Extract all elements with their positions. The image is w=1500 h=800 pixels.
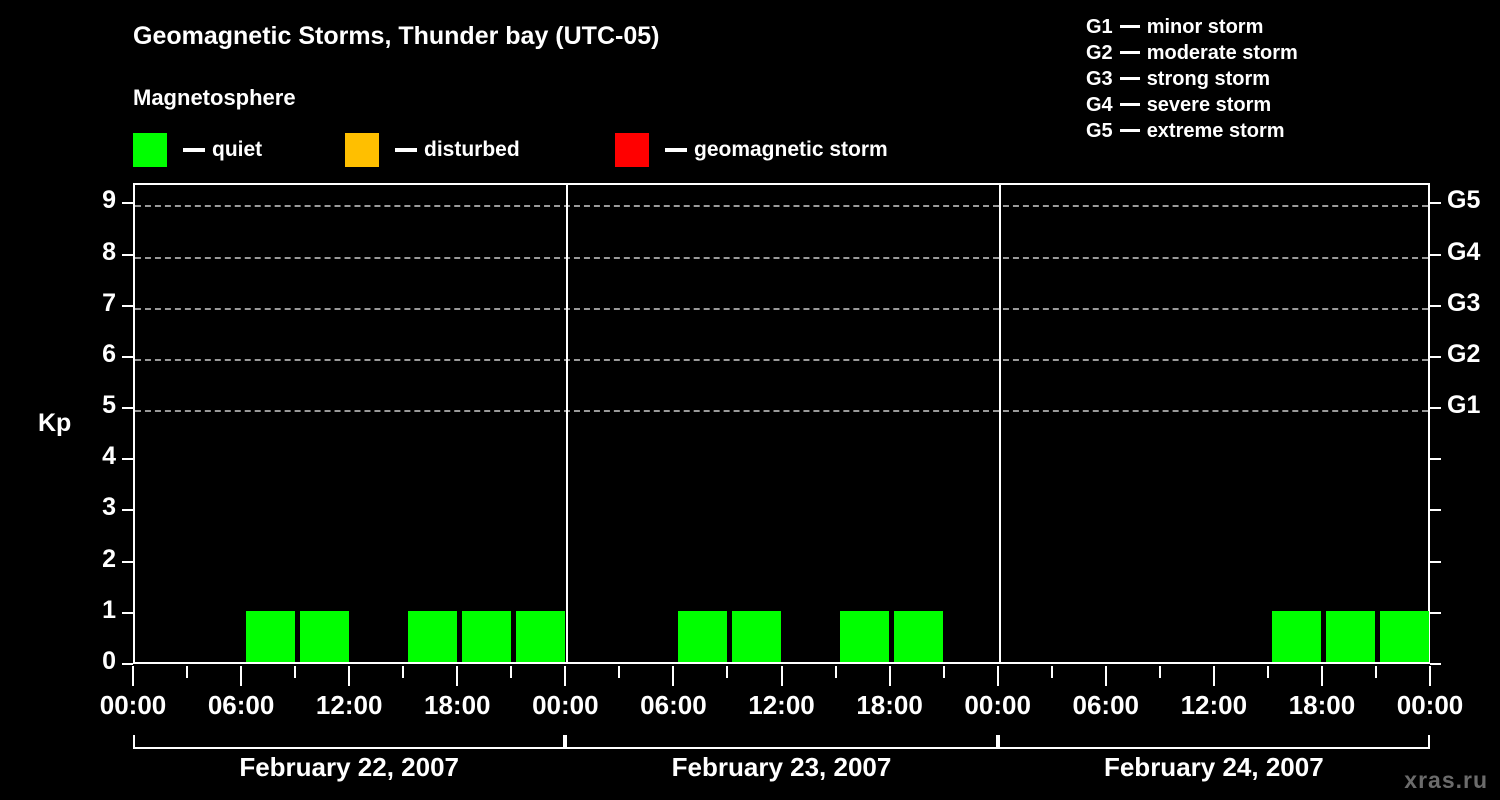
legend-entry-quiet: quiet xyxy=(133,133,262,167)
y-tick-7 xyxy=(122,305,133,307)
g-legend-description: strong storm xyxy=(1147,68,1270,90)
legend-dash-icon xyxy=(395,148,417,152)
y-tick-label-5: 5 xyxy=(78,393,116,418)
y-tick-label-0: 0 xyxy=(78,649,116,674)
day-separator-2 xyxy=(999,185,1001,662)
day-bracket-3 xyxy=(998,735,1430,749)
kp-bar xyxy=(246,611,295,662)
day-label-3: February 24, 2007 xyxy=(998,752,1430,783)
y-right-tick-8 xyxy=(1430,254,1441,256)
g-legend-dash-icon xyxy=(1120,129,1140,132)
g-legend-row-g5: G5extreme storm xyxy=(1086,118,1486,144)
g-legend-dash-icon xyxy=(1120,103,1140,106)
y-tick-label-8: 8 xyxy=(78,240,116,265)
g-legend-row-g1: G1minor storm xyxy=(1086,14,1486,40)
legend-label: quiet xyxy=(212,138,262,162)
kp-bar xyxy=(678,611,727,662)
x-axis-label: 00:00 xyxy=(938,690,1058,721)
x-tick-21 xyxy=(1267,666,1269,678)
x-tick-23 xyxy=(1375,666,1377,678)
x-axis-label: 12:00 xyxy=(722,690,842,721)
y-tick-label-4: 4 xyxy=(78,444,116,469)
kp-bar xyxy=(408,611,457,662)
y-tick-3 xyxy=(122,509,133,511)
y-right-tick-4 xyxy=(1430,458,1441,460)
x-tick-8 xyxy=(564,666,566,686)
gridline-kp-6 xyxy=(135,359,1428,361)
y-tick-label-7: 7 xyxy=(78,291,116,316)
legend-label: disturbed xyxy=(424,138,520,162)
y-right-label-g5: G5 xyxy=(1447,188,1480,213)
kp-bar xyxy=(894,611,943,662)
y-tick-2 xyxy=(122,561,133,563)
x-tick-1 xyxy=(186,666,188,678)
x-axis-label: 00:00 xyxy=(505,690,625,721)
x-tick-22 xyxy=(1321,666,1323,686)
y-right-label-g2: G2 xyxy=(1447,342,1480,367)
g-legend-code: G5 xyxy=(1086,120,1113,142)
y-right-label-g1: G1 xyxy=(1447,393,1480,418)
y-tick-label-1: 1 xyxy=(78,598,116,623)
day-label-2: February 23, 2007 xyxy=(565,752,997,783)
legend-dash-icon xyxy=(665,148,687,152)
legend-dash-icon xyxy=(183,148,205,152)
kp-bar xyxy=(1272,611,1321,662)
watermark: xras.ru xyxy=(1404,767,1488,794)
chart-subtitle: Magnetosphere xyxy=(133,85,296,111)
quiet-swatch xyxy=(133,133,167,167)
x-tick-6 xyxy=(456,666,458,686)
legend-label: geomagnetic storm xyxy=(694,138,888,162)
x-tick-5 xyxy=(402,666,404,678)
legend-entry-disturbed: disturbed xyxy=(345,133,520,167)
g-legend-code: G2 xyxy=(1086,42,1113,64)
y-tick-label-3: 3 xyxy=(78,495,116,520)
g-legend-code: G4 xyxy=(1086,94,1113,116)
gridline-kp-5 xyxy=(135,410,1428,412)
kp-bar xyxy=(516,611,565,662)
x-axis-label: 06:00 xyxy=(613,690,733,721)
chart-plot-area xyxy=(133,183,1430,664)
y-tick-label-2: 2 xyxy=(78,547,116,572)
g-legend-description: moderate storm xyxy=(1147,42,1298,64)
storm-swatch xyxy=(615,133,649,167)
x-axis-label: 06:00 xyxy=(181,690,301,721)
x-axis-label: 18:00 xyxy=(830,690,950,721)
y-tick-1 xyxy=(122,612,133,614)
plot-inner xyxy=(135,185,1428,662)
x-axis-label: 12:00 xyxy=(1154,690,1274,721)
x-tick-19 xyxy=(1159,666,1161,678)
x-tick-15 xyxy=(943,666,945,678)
kp-bar xyxy=(1380,611,1429,662)
g-legend-description: severe storm xyxy=(1147,94,1272,116)
y-tick-0 xyxy=(122,663,133,665)
day-bracket-2 xyxy=(565,735,997,749)
x-tick-3 xyxy=(294,666,296,678)
x-tick-9 xyxy=(618,666,620,678)
day-separator-1 xyxy=(566,185,568,662)
kp-bar xyxy=(732,611,781,662)
y-tick-6 xyxy=(122,356,133,358)
x-tick-13 xyxy=(835,666,837,678)
page-title: Geomagnetic Storms, Thunder bay (UTC-05) xyxy=(133,22,659,51)
y-right-tick-9 xyxy=(1430,202,1441,204)
x-tick-20 xyxy=(1213,666,1215,686)
kp-bar xyxy=(300,611,349,662)
y-tick-9 xyxy=(122,202,133,204)
x-tick-18 xyxy=(1105,666,1107,686)
g-legend-code: G1 xyxy=(1086,16,1113,38)
y-tick-label-6: 6 xyxy=(78,342,116,367)
x-tick-12 xyxy=(781,666,783,686)
x-tick-4 xyxy=(348,666,350,686)
g-legend-description: extreme storm xyxy=(1147,120,1285,142)
y-axis-title: Kp xyxy=(38,409,71,438)
x-axis-label: 18:00 xyxy=(397,690,517,721)
disturbed-swatch xyxy=(345,133,379,167)
y-right-label-g3: G3 xyxy=(1447,291,1480,316)
kp-bar xyxy=(840,611,889,662)
gridline-kp-9 xyxy=(135,205,1428,207)
y-tick-5 xyxy=(122,407,133,409)
y-right-tick-7 xyxy=(1430,305,1441,307)
y-right-tick-2 xyxy=(1430,561,1441,563)
legend-entry-geomagnetic-storm: geomagnetic storm xyxy=(615,133,888,167)
x-axis-label: 18:00 xyxy=(1262,690,1382,721)
y-right-tick-1 xyxy=(1430,612,1441,614)
g-legend-row-g4: G4severe storm xyxy=(1086,92,1486,118)
x-axis-label: 00:00 xyxy=(73,690,193,721)
day-bracket-1 xyxy=(133,735,565,749)
x-tick-11 xyxy=(726,666,728,678)
gridline-kp-7 xyxy=(135,308,1428,310)
gridline-kp-8 xyxy=(135,257,1428,259)
g-legend-description: minor storm xyxy=(1147,16,1264,38)
x-tick-10 xyxy=(672,666,674,686)
x-tick-24 xyxy=(1429,666,1431,686)
g-legend-row-g2: G2moderate storm xyxy=(1086,40,1486,66)
day-label-1: February 22, 2007 xyxy=(133,752,565,783)
kp-bar xyxy=(462,611,511,662)
y-right-tick-3 xyxy=(1430,509,1441,511)
y-right-tick-0 xyxy=(1430,663,1441,665)
y-tick-label-9: 9 xyxy=(78,188,116,213)
g-legend-dash-icon xyxy=(1120,25,1140,28)
x-tick-7 xyxy=(510,666,512,678)
g-legend-row-g3: G3strong storm xyxy=(1086,66,1486,92)
g-legend-dash-icon xyxy=(1120,77,1140,80)
y-tick-4 xyxy=(122,458,133,460)
y-right-tick-5 xyxy=(1430,407,1441,409)
g-legend-code: G3 xyxy=(1086,68,1113,90)
x-tick-0 xyxy=(132,666,134,686)
x-axis-label: 12:00 xyxy=(289,690,409,721)
y-right-label-g4: G4 xyxy=(1447,240,1480,265)
x-axis-label: 00:00 xyxy=(1370,690,1490,721)
kp-bar xyxy=(1326,611,1375,662)
g-scale-legend: G1minor stormG2moderate stormG3strong st… xyxy=(1086,14,1486,144)
x-tick-2 xyxy=(240,666,242,686)
y-tick-8 xyxy=(122,254,133,256)
g-legend-dash-icon xyxy=(1120,51,1140,54)
x-axis-label: 06:00 xyxy=(1046,690,1166,721)
y-right-tick-6 xyxy=(1430,356,1441,358)
x-tick-16 xyxy=(997,666,999,686)
x-tick-14 xyxy=(889,666,891,686)
x-tick-17 xyxy=(1051,666,1053,678)
